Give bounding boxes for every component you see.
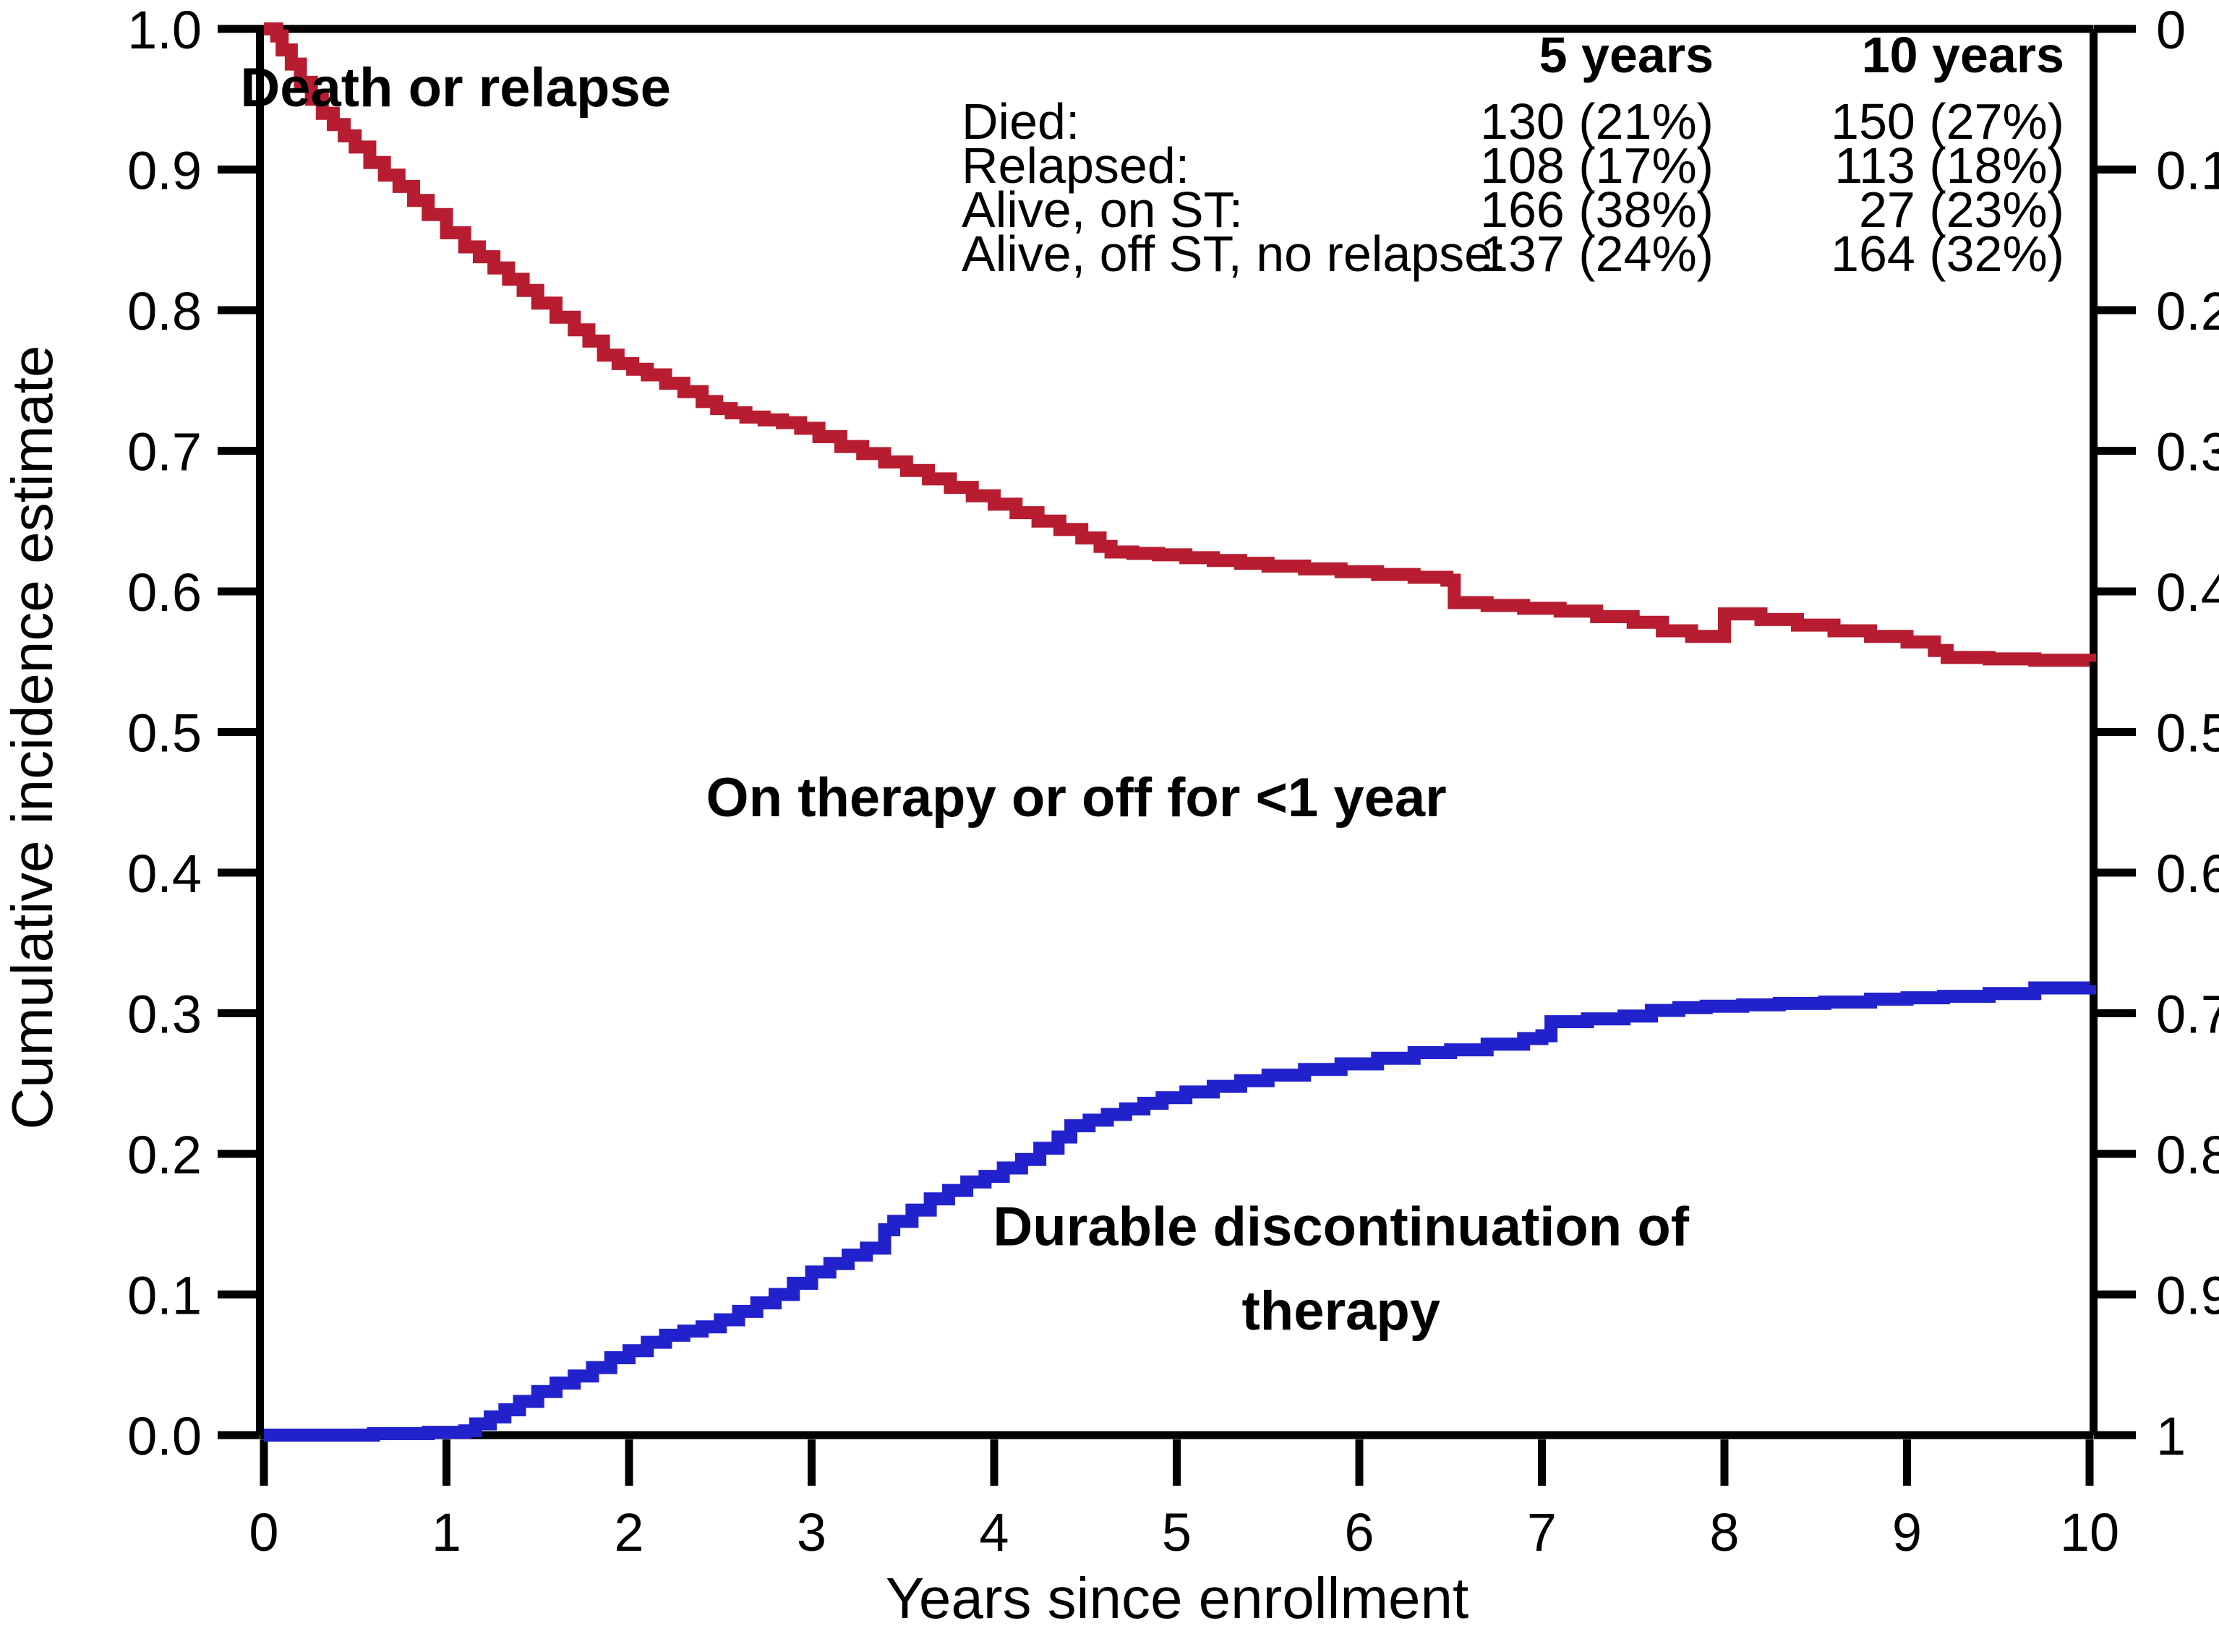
y-tick-label-right: 0.1 <box>2156 141 2219 201</box>
y-tick-label-left: 0.8 <box>127 281 202 341</box>
y-tick-label-right: 0.6 <box>2156 844 2219 904</box>
x-tick-label: 5 <box>1162 1502 1192 1562</box>
x-tick-label: 10 <box>2060 1502 2119 1562</box>
x-tick-label: 9 <box>1892 1502 1922 1562</box>
y-tick-label-right: 0.2 <box>2156 281 2219 341</box>
annotation-row-value-5y: 137 (24%) <box>1480 226 1714 282</box>
x-axis-title: Years since enrollment <box>886 1566 1468 1630</box>
annotation-col-header-5y: 5 years <box>1539 27 1714 83</box>
x-tick-label: 1 <box>432 1502 461 1562</box>
y-tick-label-right: 0.3 <box>2156 422 2219 482</box>
region-label-1: On therapy or off for <1 year <box>706 767 1447 829</box>
y-tick-label-left: 0.0 <box>127 1406 202 1466</box>
x-tick-label: 2 <box>614 1502 644 1562</box>
annotation-col-header-10y: 10 years <box>1862 27 2064 83</box>
y-tick-label-left: 0.4 <box>127 844 202 904</box>
y-tick-label-right: 0.8 <box>2156 1125 2219 1185</box>
annotation-row-value-10y: 164 (32%) <box>1831 226 2064 282</box>
region-label-3: therapy <box>1241 1280 1440 1342</box>
y-tick-label-right: 0.7 <box>2156 985 2219 1045</box>
y-tick-label-right: 0.9 <box>2156 1266 2219 1326</box>
y-tick-label-left: 0.2 <box>127 1125 202 1185</box>
y-tick-label-left: 0.7 <box>127 422 202 482</box>
x-tick-label: 0 <box>249 1502 278 1562</box>
x-tick-label: 3 <box>797 1502 826 1562</box>
x-tick-label: 8 <box>1709 1502 1739 1562</box>
y-tick-label-left: 0.1 <box>127 1266 202 1326</box>
y-tick-label-left: 1.0 <box>127 0 202 60</box>
y-tick-label-left: 0.9 <box>127 141 202 201</box>
y-tick-label-left: 0.5 <box>127 703 202 763</box>
y-tick-label-left: 0.6 <box>127 562 202 622</box>
y-tick-label-right: 1 <box>2156 1406 2186 1466</box>
x-tick-label: 4 <box>979 1502 1009 1562</box>
y-tick-label-right: 0.4 <box>2156 562 2219 622</box>
y-tick-label-left: 0.3 <box>127 985 202 1045</box>
annotation-row-label: Alive, off ST, no relapse: <box>962 226 1507 282</box>
y-tick-label-right: 0 <box>2156 0 2186 60</box>
x-tick-label: 7 <box>1527 1502 1557 1562</box>
chart-canvas: 0.00.10.20.30.40.50.60.70.80.91.0 00.10.… <box>0 0 2219 1652</box>
y-tick-label-right: 0.5 <box>2156 703 2219 763</box>
cumulative-incidence-chart: 0.00.10.20.30.40.50.60.70.80.91.0 00.10.… <box>0 0 2219 1652</box>
y-axis-title: Cumulative incidence estimate <box>0 346 64 1130</box>
x-tick-label: 6 <box>1344 1502 1374 1562</box>
region-label-0: Death or relapse <box>240 57 671 119</box>
region-label-2: Durable discontinuation of <box>993 1196 1689 1257</box>
